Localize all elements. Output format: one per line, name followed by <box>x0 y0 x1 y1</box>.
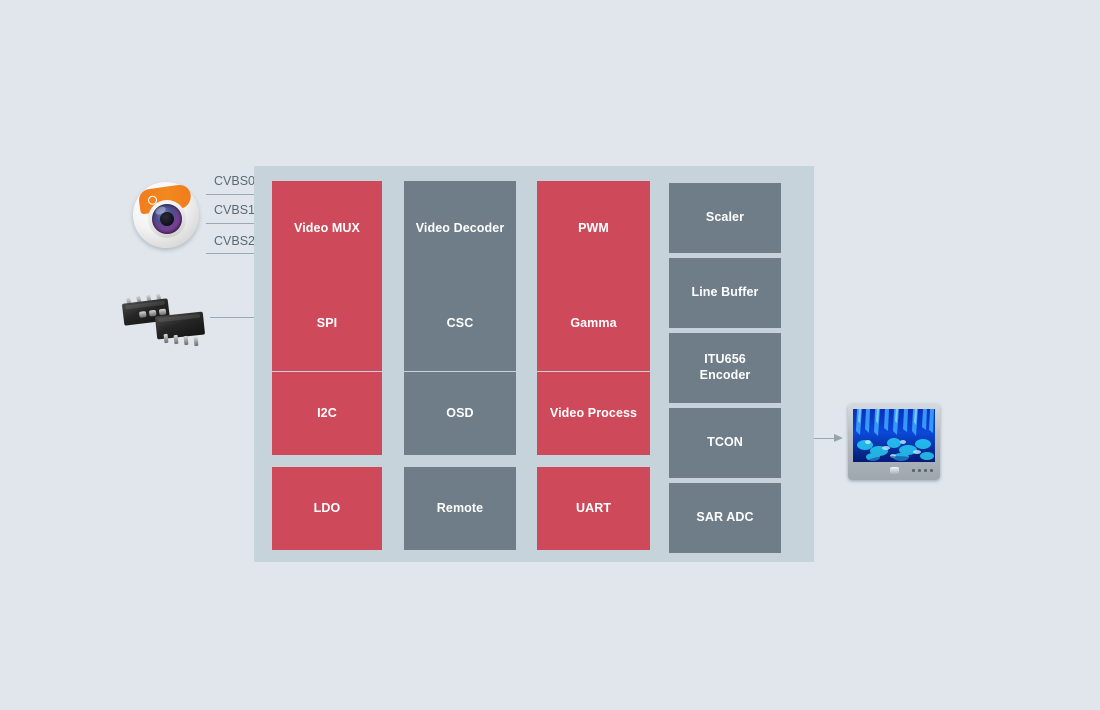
chip-pad <box>139 311 147 318</box>
block-ldo[interactable]: LDO <box>272 467 382 550</box>
chip-pin <box>184 336 189 345</box>
chip-front-body <box>155 312 205 340</box>
block-csc[interactable]: CSC <box>404 276 516 371</box>
monitor-indicator-dot <box>918 469 921 472</box>
arrowhead-tcon-to-display <box>834 434 843 442</box>
block-sar-adc[interactable]: SAR ADC <box>669 483 781 553</box>
diagram-canvas: CVBS0 CVBS1 CVBS2 <box>0 0 1100 710</box>
wire-label-cvbs2: CVBS2 <box>214 234 255 248</box>
monitor-indicator-dot <box>912 469 915 472</box>
block-pwm[interactable]: PWM <box>537 181 650 276</box>
ic-chip-icon <box>118 292 214 348</box>
block-video-mux[interactable]: Video MUX <box>272 181 382 276</box>
camera-icon <box>133 182 199 248</box>
monitor-indicator-dot <box>930 469 933 472</box>
block-scaler[interactable]: Scaler <box>669 183 781 253</box>
block-tcon[interactable]: TCON <box>669 408 781 478</box>
monitor-power-button[interactable] <box>890 467 899 474</box>
monitor-icon <box>848 404 940 480</box>
chip-pin <box>164 334 169 343</box>
chip-pin <box>174 335 179 344</box>
camera-lens-core <box>160 212 174 226</box>
chip-highlight <box>158 314 200 322</box>
chip-pad <box>159 309 167 316</box>
block-gamma[interactable]: Gamma <box>537 276 650 371</box>
monitor-screen <box>853 409 935 462</box>
monitor-screen-image <box>853 409 935 462</box>
block-spi[interactable]: SPI <box>272 276 382 371</box>
chip-pin <box>194 337 199 346</box>
wire-label-cvbs1: CVBS1 <box>214 203 255 217</box>
block-video-process[interactable]: Video Process <box>537 372 650 455</box>
chip-highlight <box>125 301 165 310</box>
monitor-indicator-dot <box>924 469 927 472</box>
block-i2c[interactable]: I2C <box>272 372 382 455</box>
block-video-decoder[interactable]: Video Decoder <box>404 181 516 276</box>
block-line-buffer[interactable]: Line Buffer <box>669 258 781 328</box>
soc-panel: Video MUX SPI I2C LDO Video Decoder CSC … <box>254 166 814 562</box>
wire-label-cvbs0: CVBS0 <box>214 174 255 188</box>
block-uart[interactable]: UART <box>537 467 650 550</box>
block-osd[interactable]: OSD <box>404 372 516 455</box>
block-remote[interactable]: Remote <box>404 467 516 550</box>
block-itu656-encoder[interactable]: ITU656 Encoder <box>669 333 781 403</box>
